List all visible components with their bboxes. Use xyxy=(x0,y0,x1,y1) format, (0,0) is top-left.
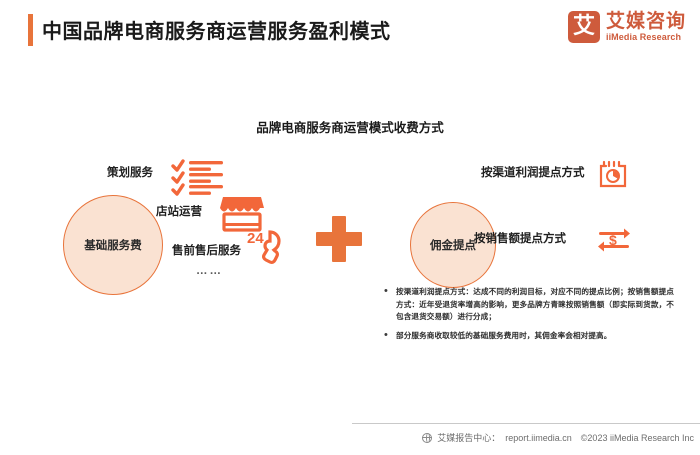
svg-text:$: $ xyxy=(609,232,617,248)
slide-footer: 艾媒报告中心： report.iimedia.cn ©2023 iiMedia … xyxy=(352,423,700,447)
plus-operator-icon xyxy=(316,216,362,262)
brand-text: 艾媒咨询 iiMedia Research xyxy=(606,12,686,43)
notes-list: 按渠道利润提点方式：达成不同的利润目标，对应不同的提点比例；按销售额提点方式：近… xyxy=(382,286,674,348)
label-shop-operation: 店站运营 xyxy=(156,203,202,219)
calendar-clock-icon xyxy=(597,160,629,195)
title-accent-bar xyxy=(28,14,33,46)
footer-url[interactable]: report.iimedia.cn xyxy=(505,433,572,443)
money-exchange-icon: $ xyxy=(596,225,632,262)
note-text: 按渠道利润提点方式：达成不同的利润目标，对应不同的提点比例；按销售额提点方式：近… xyxy=(396,286,674,324)
brand-logo: 艾 艾媒咨询 iiMedia Research xyxy=(568,11,686,43)
label-presale-aftersale-service: 售前售后服务 xyxy=(172,242,241,258)
note-item: 按渠道利润提点方式：达成不同的利润目标，对应不同的提点比例；按销售额提点方式：近… xyxy=(382,286,674,324)
base-service-fee-circle: 基础服务费 xyxy=(63,195,163,295)
brand-name-cn: 艾媒咨询 xyxy=(606,12,686,32)
note-item: 部分服务商收取较低的基础服务费用时，其佣金率会相对提高。 xyxy=(382,330,674,343)
label-planning-service: 策划服务 xyxy=(107,164,153,180)
slide-root: 中国品牌电商服务商运营服务盈利模式 艾 艾媒咨询 iiMedia Researc… xyxy=(0,0,700,455)
footer-source-label: 艾媒报告中心： xyxy=(437,431,500,444)
svg-text:24: 24 xyxy=(247,230,264,247)
phone-24h-icon: 24 xyxy=(246,228,294,275)
profit-model-diagram: 基础服务费 策划服务 店站运营 售前售后服务 …… xyxy=(0,150,700,280)
label-sales-amount-commission: 按销售额提点方式 xyxy=(474,230,566,246)
brand-name-en: iiMedia Research xyxy=(606,32,686,43)
label-channel-profit-commission: 按渠道利润提点方式 xyxy=(481,164,585,180)
slide-header: 中国品牌电商服务商运营服务盈利模式 艾 艾媒咨询 iiMedia Researc… xyxy=(0,0,700,62)
footer-copyright: ©2023 iiMedia Research Inc xyxy=(581,433,694,443)
globe-icon xyxy=(422,433,432,443)
note-text: 部分服务商收取较低的基础服务费用时，其佣金率会相对提高。 xyxy=(396,330,674,343)
page-title: 中国品牌电商服务商运营服务盈利模式 xyxy=(42,15,391,44)
label-ellipsis: …… xyxy=(196,265,223,277)
brand-mark-icon: 艾 xyxy=(568,11,600,43)
chart-subtitle: 品牌电商服务商运营模式收费方式 xyxy=(0,117,700,136)
